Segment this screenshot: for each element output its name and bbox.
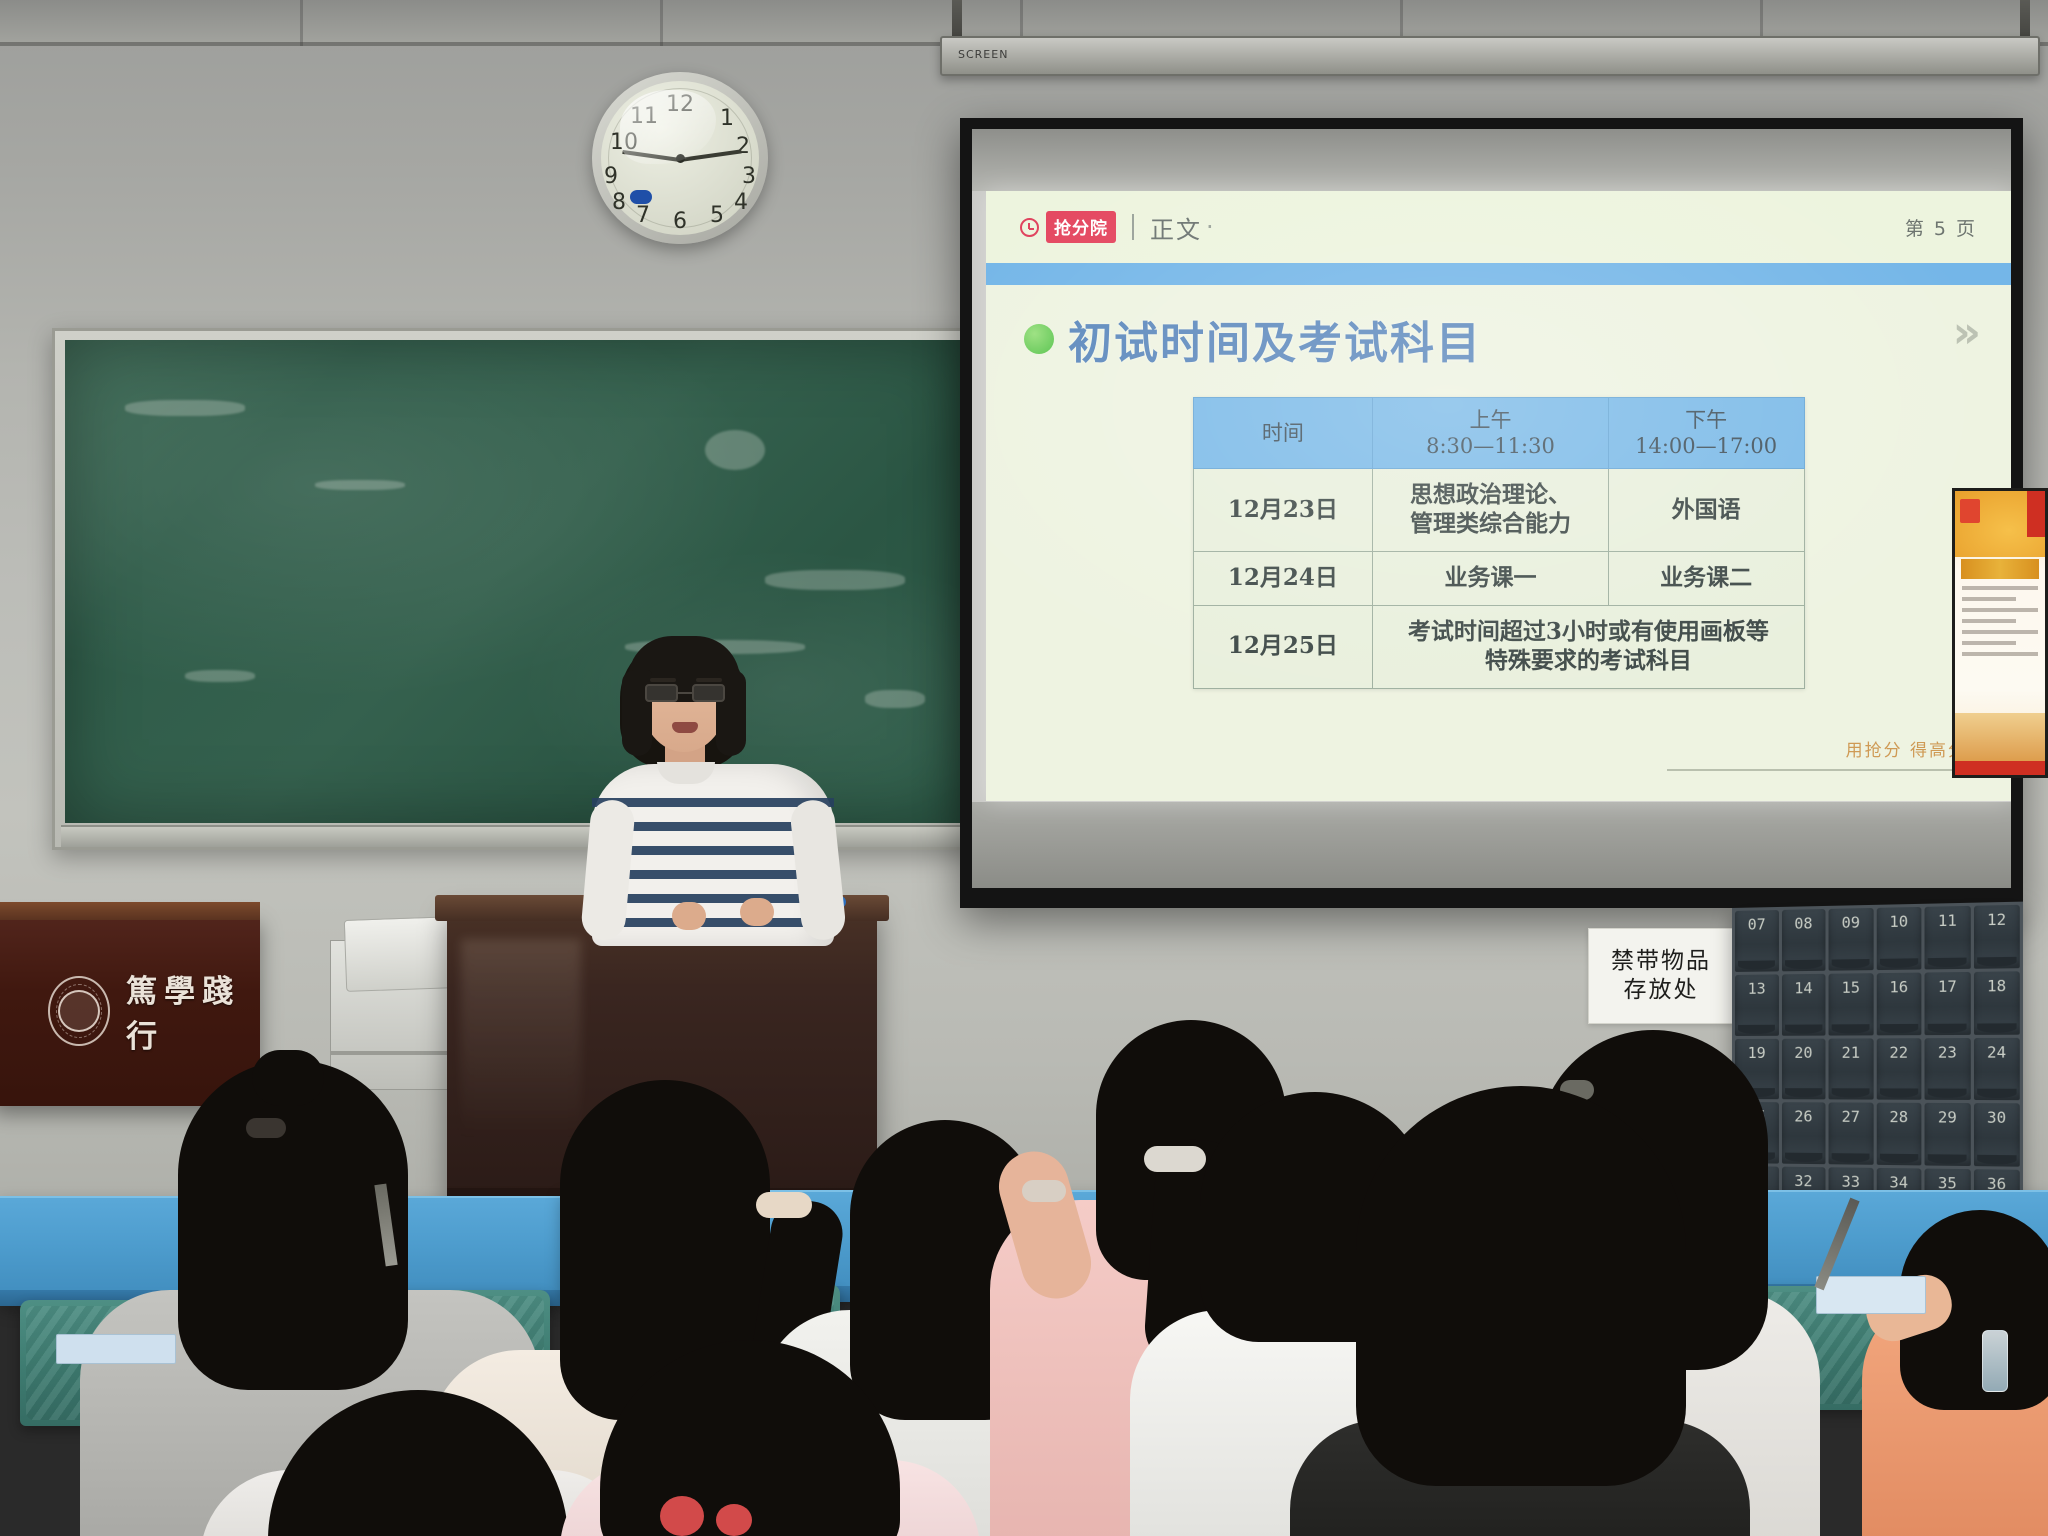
double-chevron-right-icon: »	[1953, 311, 1981, 355]
pocket-number: 30	[1987, 1109, 2006, 1128]
wall-clock: 12 1 2 3 4 5 6 7 8 9 10 11	[592, 72, 768, 244]
slide-section-dot: ·	[1206, 213, 1214, 241]
pocket-number: 33	[1842, 1173, 1861, 1192]
pocket-number: 32	[1794, 1172, 1812, 1190]
phone-storage-organizer: 0708091011121314151617181920212223242526…	[1732, 902, 2023, 1237]
pocket-number: 15	[1842, 978, 1861, 996]
cell-morning-subject: 思想政治理论、 管理类综合能力	[1373, 469, 1609, 552]
notebook	[56, 1334, 176, 1364]
slide-title: 初试时间及考试科目	[1024, 285, 1973, 371]
water-bottle	[1982, 1330, 2008, 1392]
slide-footer-text: 用抢分 得高分	[1667, 736, 1967, 761]
presentation-slide: 抢分院 正文 · 第 5 页 初试时间及考试科目 »	[986, 191, 2011, 801]
projection-screen: 抢分院 正文 · 第 5 页 初试时间及考试科目 »	[960, 118, 2023, 908]
classroom-scene: 12 1 2 3 4 5 6 7 8 9 10 11 SCREE	[0, 0, 2048, 1536]
storage-pocket-27: 27	[1829, 1103, 1874, 1165]
storage-pocket-29: 29	[1925, 1103, 1971, 1166]
slide-title-text: 初试时间及考试科目	[1068, 307, 1482, 371]
storage-pocket-22: 22	[1876, 1038, 1921, 1100]
header-divider	[1132, 214, 1134, 240]
storage-pocket-21: 21	[1829, 1038, 1874, 1100]
storage-pocket-23: 23	[1925, 1038, 1971, 1101]
podium-plaque: 篤學踐行	[0, 916, 260, 1106]
pocket-number: 08	[1794, 914, 1812, 933]
cell-afternoon-subject: 外国语	[1608, 469, 1804, 552]
storage-pocket-13: 13	[1735, 974, 1778, 1035]
storage-pocket-07: 07	[1735, 910, 1778, 972]
slide-page-number: 第 5 页	[1905, 214, 1977, 241]
header-cell-afternoon: 下午 14:00—17:00	[1608, 398, 1804, 469]
storage-pocket-12: 12	[1973, 905, 2019, 969]
exam-schedule-table: 时间 上午 8:30—11:30 下午 14:00—17:00	[1193, 397, 1805, 689]
storage-pocket-28: 28	[1876, 1103, 1921, 1166]
housing-label: SCREEN	[958, 48, 1008, 61]
table-header-row: 时间 上午 8:30—11:30 下午 14:00—17:00	[1193, 398, 1804, 469]
clock-blue-marker	[630, 190, 652, 204]
pocket-number: 29	[1938, 1108, 1957, 1127]
pocket-number: 18	[1987, 976, 2006, 995]
slide-body: 初试时间及考试科目 » 时间 上午 8:30—11:30	[986, 285, 2011, 801]
pocket-number: 07	[1748, 915, 1766, 933]
slide-section-label: 正文	[1150, 210, 1202, 245]
storage-pocket-14: 14	[1781, 974, 1825, 1036]
pocket-number: 17	[1938, 977, 1957, 996]
notebook	[1816, 1276, 1926, 1314]
clock-logo-icon	[1020, 218, 1039, 237]
wall-poster	[1952, 488, 2048, 778]
sign-line-2: 存放处	[1624, 976, 1699, 1005]
cell-morning-subject: 业务课一	[1373, 552, 1609, 606]
pocket-number: 13	[1748, 979, 1766, 997]
pocket-number: 19	[1748, 1043, 1766, 1061]
cell-afternoon-subject: 业务课二	[1608, 552, 1804, 606]
storage-pocket-08: 08	[1781, 909, 1825, 971]
cell-date: 12月25日	[1193, 605, 1373, 688]
cell-date: 12月23日	[1193, 469, 1373, 552]
header-cell-morning: 上午 8:30—11:30	[1373, 398, 1609, 469]
cell-date: 12月24日	[1193, 552, 1373, 606]
pocket-number: 24	[1987, 1043, 2006, 1062]
sign-line-1: 禁带物品	[1611, 947, 1711, 976]
pocket-number: 12	[1987, 910, 2006, 929]
slide-accent-bar	[986, 263, 2011, 285]
pocket-number: 21	[1842, 1043, 1861, 1061]
pocket-number: 28	[1889, 1108, 1908, 1127]
storage-pocket-16: 16	[1876, 972, 1921, 1035]
storage-pocket-17: 17	[1925, 972, 1971, 1035]
blackboard	[52, 328, 977, 850]
brand-logo-text: 抢分院	[1046, 211, 1116, 243]
projector	[344, 916, 458, 992]
slide-footer: 用抢分 得高分	[1667, 736, 1967, 771]
storage-pocket-09: 09	[1829, 908, 1874, 971]
brand-logo: 抢分院	[1020, 211, 1116, 243]
storage-pocket-18: 18	[1973, 971, 2019, 1034]
storage-pocket-20: 20	[1781, 1038, 1825, 1100]
pocket-number: 16	[1889, 978, 1908, 997]
pocket-number: 22	[1889, 1043, 1908, 1061]
pocket-number: 20	[1794, 1043, 1812, 1061]
storage-pocket-10: 10	[1876, 907, 1921, 970]
projection-screen-housing: SCREEN	[940, 36, 2040, 76]
green-bullet-icon	[1024, 324, 1054, 354]
pocket-number: 26	[1794, 1108, 1812, 1126]
table-row: 12月24日 业务课一 业务课二	[1193, 552, 1804, 606]
header-cell-time: 时间	[1193, 398, 1373, 469]
storage-pocket-26: 26	[1781, 1103, 1825, 1165]
pocket-number: 11	[1938, 911, 1957, 930]
table-row: 12月23日 思想政治理论、 管理类综合能力 外国语	[1193, 469, 1804, 552]
storage-pocket-24: 24	[1973, 1037, 2019, 1100]
glasses-icon	[645, 684, 725, 702]
pocket-number: 14	[1794, 979, 1812, 997]
cell-merged-note: 考试时间超过3小时或有使用画板等 特殊要求的考试科目	[1373, 605, 1804, 688]
table-row: 12月25日 考试时间超过3小时或有使用画板等 特殊要求的考试科目	[1193, 605, 1804, 688]
pocket-number: 27	[1842, 1108, 1861, 1126]
storage-pocket-11: 11	[1925, 906, 1971, 969]
university-seal-icon	[48, 976, 110, 1046]
pocket-number: 09	[1842, 913, 1861, 932]
storage-pocket-15: 15	[1829, 973, 1874, 1035]
pocket-number: 10	[1889, 912, 1908, 931]
plaque-motto: 篤學踐行	[126, 966, 260, 1056]
prohibited-items-sign: 禁带物品 存放处	[1588, 928, 1734, 1024]
storage-pocket-30: 30	[1973, 1103, 2019, 1166]
slide-header: 抢分院 正文 · 第 5 页	[986, 191, 2011, 263]
pocket-number: 23	[1938, 1043, 1957, 1062]
